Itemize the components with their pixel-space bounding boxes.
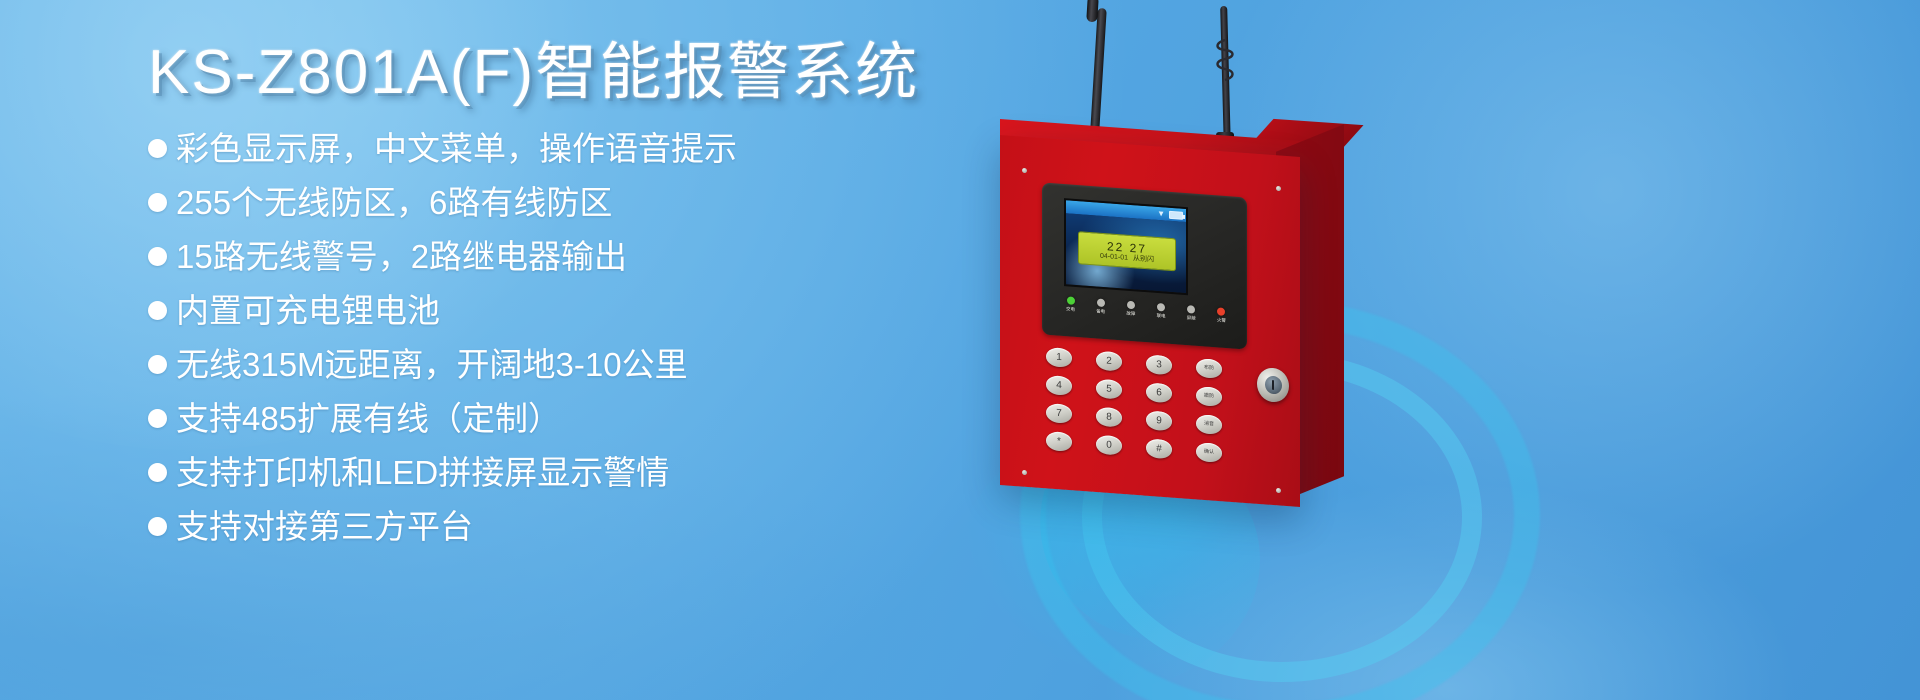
screw xyxy=(1022,470,1027,475)
key-hash[interactable]: # xyxy=(1146,438,1172,459)
feature-label: 内置可充电锂电池 xyxy=(176,294,440,327)
led-backup-power: 备电 xyxy=(1096,298,1105,314)
bullet-dot-icon xyxy=(148,463,167,482)
led-fire-alarm: 火警 xyxy=(1217,307,1226,323)
led-link: 联电 xyxy=(1157,303,1166,319)
key-6[interactable]: 6 xyxy=(1146,382,1172,403)
led-label: 交电 xyxy=(1066,307,1075,312)
feature-list: 彩色显示屏，中文菜单，操作语音提示 255个无线防区，6路有线防区 15路无线警… xyxy=(148,124,948,550)
list-item: 彩色显示屏，中文菜单，操作语音提示 xyxy=(148,124,948,172)
bullet-dot-icon xyxy=(148,139,167,158)
feature-label: 无线315M远距离，开阔地3-10公里 xyxy=(176,348,688,381)
led-lamp-icon xyxy=(1187,305,1195,314)
feature-label: 支持485扩展有线（定制） xyxy=(176,402,561,435)
antenna-left-tip xyxy=(1086,0,1099,22)
led-lamp-icon xyxy=(1157,303,1165,312)
lcd-date: 04-01-01 xyxy=(1100,252,1128,261)
list-item: 支持485扩展有线（定制） xyxy=(148,394,948,442)
list-item: 255个无线防区，6路有线防区 xyxy=(148,178,948,226)
bullet-dot-icon xyxy=(148,247,167,266)
page-title: KS-Z801A(F)智能报警系统 xyxy=(148,42,948,104)
feature-label: 15路无线警号，2路继电器输出 xyxy=(176,240,627,273)
key-lock-slot-icon xyxy=(1272,380,1274,390)
screw xyxy=(1276,186,1281,191)
screw xyxy=(1276,488,1281,493)
key-mute[interactable]: 消音 xyxy=(1196,414,1222,435)
list-item: 15路无线警号，2路继电器输出 xyxy=(148,232,948,280)
lcd-wallpaper: 22 27 04-01-01 从别闪 xyxy=(1066,213,1186,293)
feature-label: 255个无线防区，6路有线防区 xyxy=(176,186,612,219)
bullet-dot-icon xyxy=(148,301,167,320)
key-1[interactable]: 1 xyxy=(1046,347,1072,368)
feature-label: 支持打印机和LED拼接屏显示警情 xyxy=(176,456,669,489)
lcd-info-box: 22 27 04-01-01 从别闪 xyxy=(1078,231,1176,271)
list-item: 无线315M远距离，开阔地3-10公里 xyxy=(148,340,948,388)
key-lock-core-icon xyxy=(1265,375,1282,394)
led-label: 火警 xyxy=(1217,318,1226,323)
key-4[interactable]: 4 xyxy=(1046,375,1072,396)
bullet-dot-icon xyxy=(148,193,167,212)
lcd-screen: ▼ 22 27 04-01-01 从别闪 xyxy=(1064,198,1188,295)
led-lamp-icon xyxy=(1127,301,1135,310)
led-label: 屏蔽 xyxy=(1187,316,1196,321)
bullet-dot-icon xyxy=(148,409,167,428)
key-8[interactable]: 8 xyxy=(1096,407,1122,428)
led-bypass: 屏蔽 xyxy=(1187,305,1196,321)
feature-label: 彩色显示屏，中文菜单，操作语音提示 xyxy=(176,132,737,165)
bullet-dot-icon xyxy=(148,355,167,374)
keypad[interactable]: 1 2 3 布防 4 5 6 撤防 7 8 9 消音 * 0 # 确认 xyxy=(1046,347,1236,464)
key-3[interactable]: 3 xyxy=(1146,354,1172,375)
screw xyxy=(1022,168,1027,173)
led-lamp-icon xyxy=(1067,296,1075,305)
list-item: 支持打印机和LED拼接屏显示警情 xyxy=(148,448,948,496)
list-item: 支持对接第三方平台 xyxy=(148,502,948,550)
text-column: KS-Z801A(F)智能报警系统 彩色显示屏，中文菜单，操作语音提示 255个… xyxy=(148,42,948,556)
battery-icon xyxy=(1169,210,1183,219)
key-enter[interactable]: 确认 xyxy=(1196,442,1222,463)
led-lamp-icon xyxy=(1217,307,1225,316)
key-disarm[interactable]: 撤防 xyxy=(1196,386,1222,407)
key-0[interactable]: 0 xyxy=(1096,435,1122,456)
control-panel-bezel: ▼ 22 27 04-01-01 从别闪 交电 xyxy=(1042,182,1247,349)
led-label: 故障 xyxy=(1126,312,1135,317)
key-arm[interactable]: 布防 xyxy=(1196,358,1222,379)
feature-label: 支持对接第三方平台 xyxy=(176,510,473,543)
lcd-status-text: 从别闪 xyxy=(1133,255,1154,264)
key-5[interactable]: 5 xyxy=(1096,379,1122,400)
status-led-row: 交电 备电 故障 联电 屏蔽 xyxy=(1066,296,1226,323)
led-label: 备电 xyxy=(1096,309,1105,314)
led-fault: 故障 xyxy=(1126,301,1135,317)
promo-banner: KS-Z801A(F)智能报警系统 彩色显示屏，中文菜单，操作语音提示 255个… xyxy=(0,0,1920,700)
antenna-coil-icon xyxy=(1212,38,1238,82)
key-2[interactable]: 2 xyxy=(1096,351,1122,372)
list-item: 内置可充电锂电池 xyxy=(148,286,948,334)
led-ac-power: 交电 xyxy=(1066,296,1075,312)
key-star[interactable]: * xyxy=(1046,431,1072,452)
key-7[interactable]: 7 xyxy=(1046,403,1072,424)
led-lamp-icon xyxy=(1097,298,1105,307)
signal-icon: ▼ xyxy=(1157,209,1165,218)
alarm-control-panel-device: ▼ 22 27 04-01-01 从别闪 交电 xyxy=(960,0,1520,700)
key-9[interactable]: 9 xyxy=(1146,410,1172,431)
bullet-dot-icon xyxy=(148,517,167,536)
led-label: 联电 xyxy=(1157,314,1166,319)
